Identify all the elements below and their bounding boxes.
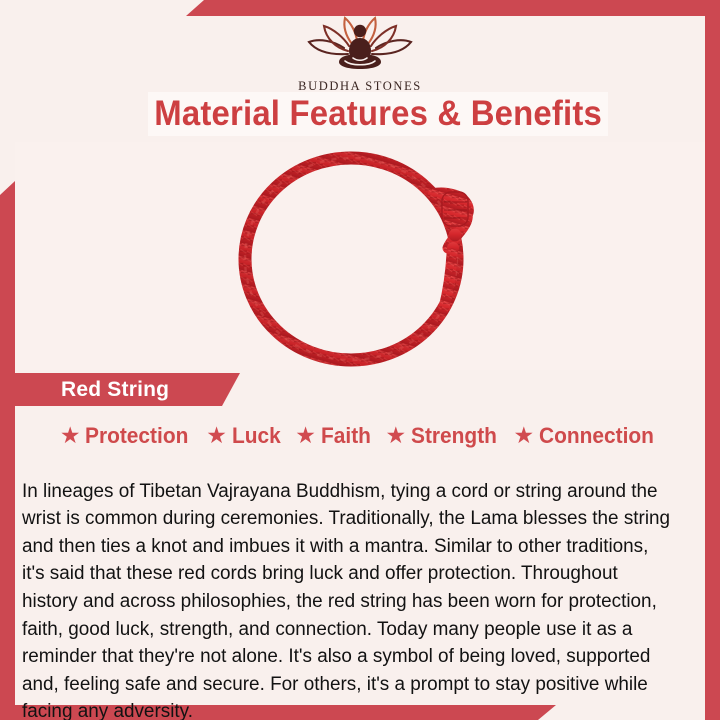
- description-paragraph: In lineages of Tibetan Vajrayana Buddhis…: [22, 478, 672, 720]
- benefit-item-protection: ★ Protection: [55, 423, 199, 449]
- product-image-area: [15, 142, 705, 370]
- star-icon: ★: [206, 424, 227, 447]
- header: BUDDHA STONES Material Features & Benefi…: [0, 0, 720, 142]
- benefits-row: ★ Protection ★ Luck ★ Faith ★ Strength ★…: [15, 416, 705, 456]
- star-icon: ★: [60, 424, 81, 447]
- infographic-root: BUDDHA STONES Material Features & Benefi…: [0, 0, 720, 720]
- star-icon: ★: [385, 424, 406, 447]
- star-icon: ★: [514, 424, 535, 447]
- brand-logo: BUDDHA STONES: [0, 14, 720, 94]
- benefit-label: Protection: [85, 423, 188, 449]
- benefit-label: Luck: [232, 423, 281, 449]
- benefit-item-connection: ★ Connection: [509, 423, 666, 449]
- benefit-label: Connection: [539, 423, 654, 449]
- benefit-item-strength: ★ Strength: [380, 423, 506, 449]
- page-title: Material Features & Benefits: [154, 94, 602, 134]
- product-label: Red String: [61, 378, 169, 402]
- frame-left-bar: [0, 181, 15, 720]
- product-label-banner: Red String: [15, 373, 240, 406]
- benefit-item-faith: ★ Faith: [290, 423, 378, 449]
- star-icon: ★: [295, 424, 316, 447]
- benefit-label: Strength: [411, 423, 497, 449]
- benefit-item-luck: ★ Luck: [201, 423, 288, 449]
- page-title-band: Material Features & Benefits: [148, 92, 608, 136]
- benefit-label: Faith: [321, 423, 371, 449]
- red-string-braided-bracelet-image: [220, 142, 500, 370]
- lotus-meditation-icon: [301, 14, 419, 78]
